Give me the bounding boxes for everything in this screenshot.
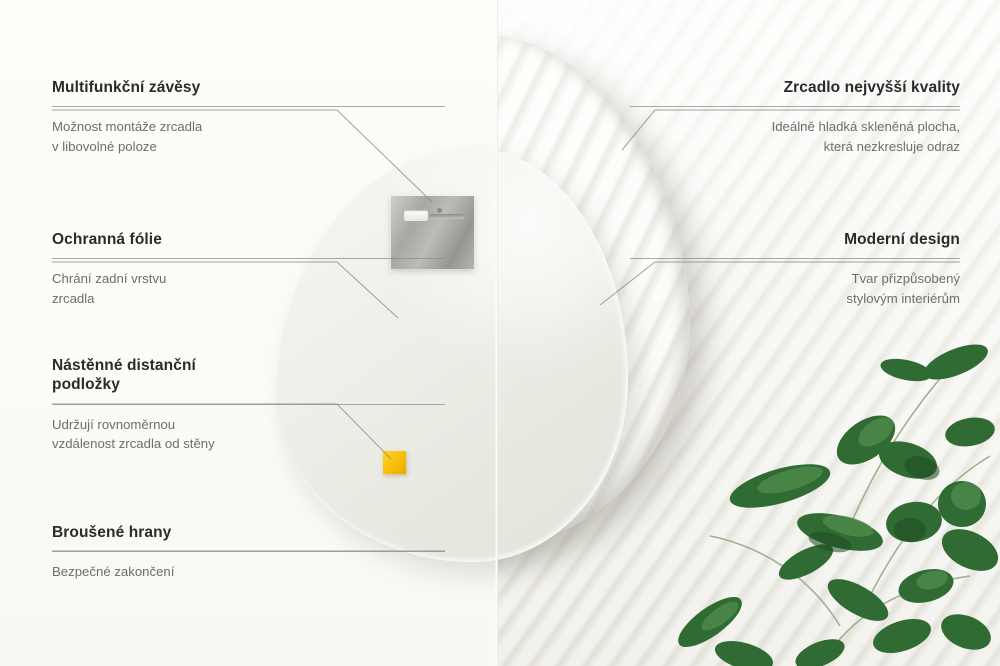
callout-desc: Tvar přizpůsobenýstylovým interiérům (630, 269, 960, 307)
callout-rule (52, 551, 445, 552)
callout-rule (52, 106, 445, 107)
hanger-screw-dot (437, 208, 442, 213)
callout-rule (630, 258, 960, 259)
callout-rule (52, 258, 445, 259)
callout-title: Zrcadlo nejvyšší kvality (630, 78, 960, 97)
callout-brousene-hrany: Broušené hrany Bezpečné zakončení (52, 523, 445, 582)
infographic-canvas: Multifunkční závěsy Možnost montáže zrca… (0, 0, 1000, 666)
callout-title: Moderní design (630, 230, 960, 249)
callout-desc: Bezpečné zakončení (52, 562, 445, 581)
callout-rule (52, 404, 445, 405)
panel-divider (495, 0, 498, 666)
callout-desc: Možnost montáže zrcadlav libovolné poloz… (52, 117, 445, 155)
callout-zrcadlo-nejvyssi-kvality: Zrcadlo nejvyšší kvality Ideálně hladká … (630, 78, 960, 156)
callout-title: Multifunkční závěsy (52, 78, 445, 97)
yellow-spacer (383, 451, 406, 474)
callout-desc: Chrání zadní vrstvuzrcadla (52, 269, 445, 307)
callout-rule (630, 106, 960, 107)
callout-title: Nástěnné distančnípodložky (52, 356, 445, 395)
green-foliage (670, 336, 1000, 666)
callout-title: Ochranná fólie (52, 230, 445, 249)
callout-moderni-design: Moderní design Tvar přizpůsobenýstylovým… (630, 230, 960, 308)
callout-distancni-podlozky: Nástěnné distančnípodložky Udržují rovno… (52, 356, 445, 453)
hanger-slot (404, 210, 428, 221)
callout-title: Broušené hrany (52, 523, 445, 542)
callout-ochranna-folie: Ochranná fólie Chrání zadní vrstvuzrcadl… (52, 230, 445, 308)
hanger-bar (429, 214, 465, 219)
callout-desc: Udržují rovnoměrnouvzdálenost zrcadla od… (52, 415, 445, 453)
callout-desc: Ideálně hladká skleněná plocha,která nez… (630, 117, 960, 155)
callout-multifunkcni-zavesy: Multifunkční závěsy Možnost montáže zrca… (52, 78, 445, 156)
